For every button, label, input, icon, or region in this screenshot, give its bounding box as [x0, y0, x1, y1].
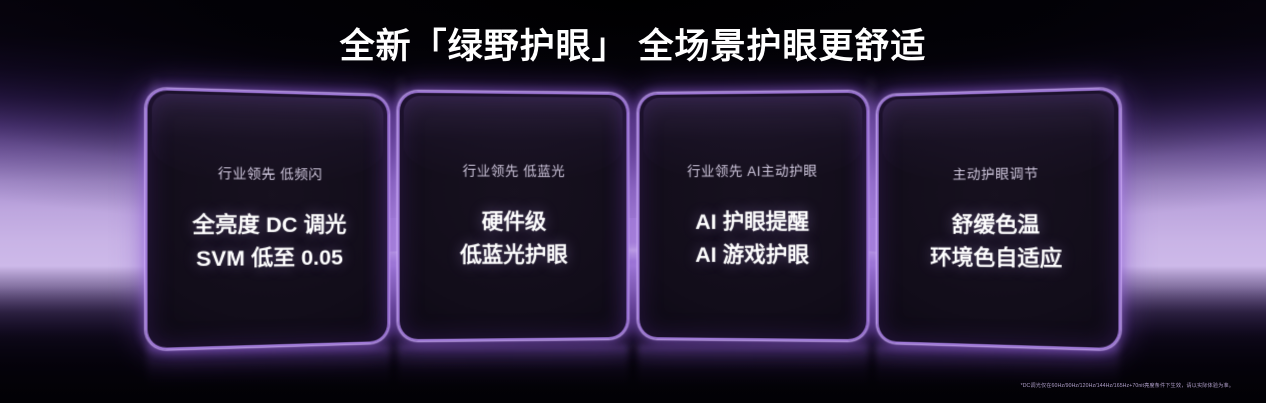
feature-card-low-blue-light[interactable]: 行业领先 低蓝光 硬件级 低蓝光护眼 — [398, 91, 629, 342]
card-reflection — [147, 343, 390, 397]
slide-canvas: 全新「绿野护眼」 全场景护眼更舒适 行业领先 低频闪 全亮度 DC 调光 SVM… — [0, 0, 1266, 403]
feature-card-adaptive-color[interactable]: 主动护眼调节 舒缓色温 环境色自适应 — [877, 88, 1121, 350]
feature-card-kicker: 行业领先 低蓝光 — [463, 160, 566, 180]
feature-card-row: 行业领先 低频闪 全亮度 DC 调光 SVM 低至 0.05 行业领先 低蓝光 … — [0, 92, 1266, 342]
feature-card-headline-line1: 舒缓色温 — [952, 209, 1040, 242]
feature-card-headline-line1: AI 护眼提醒 — [695, 206, 809, 239]
feature-card-headline-line1: 硬件级 — [482, 206, 547, 239]
feature-card-headline-line1: 全亮度 DC 调光 — [192, 209, 346, 242]
feature-card-panel[interactable]: 主动护眼调节 舒缓色温 环境色自适应 — [877, 88, 1121, 350]
feature-card-headline-line2: 环境色自适应 — [930, 242, 1062, 276]
feature-card-headline-line2: AI 游戏护眼 — [695, 239, 809, 272]
feature-card-kicker: 主动护眼调节 — [953, 163, 1039, 184]
feature-card-headline-line2: 低蓝光护眼 — [460, 239, 568, 272]
legal-footnote: *DC调光仅在60Hz/90Hz/120Hz/144Hz/165Hz+70nit… — [1021, 382, 1234, 389]
card-reflection — [638, 344, 869, 396]
feature-card-panel[interactable]: 行业领先 AI主动护眼 AI 护眼提醒 AI 游戏护眼 — [638, 91, 869, 342]
feature-card-low-flicker[interactable]: 行业领先 低频闪 全亮度 DC 调光 SVM 低至 0.05 — [145, 88, 389, 350]
feature-card-kicker: 行业领先 AI主动护眼 — [687, 160, 817, 181]
page-title: 全新「绿野护眼」 全场景护眼更舒适 — [0, 18, 1266, 69]
card-reflections — [0, 344, 1266, 400]
feature-card-kicker: 行业领先 低频闪 — [218, 162, 323, 183]
feature-card-headline-line2: SVM 低至 0.05 — [196, 242, 343, 276]
card-reflection — [398, 344, 629, 396]
feature-card-panel[interactable]: 行业领先 低蓝光 硬件级 低蓝光护眼 — [398, 91, 629, 342]
feature-card-panel[interactable]: 行业领先 低频闪 全亮度 DC 调光 SVM 低至 0.05 — [145, 88, 389, 350]
feature-card-ai-eye-care[interactable]: 行业领先 AI主动护眼 AI 护眼提醒 AI 游戏护眼 — [638, 91, 869, 342]
